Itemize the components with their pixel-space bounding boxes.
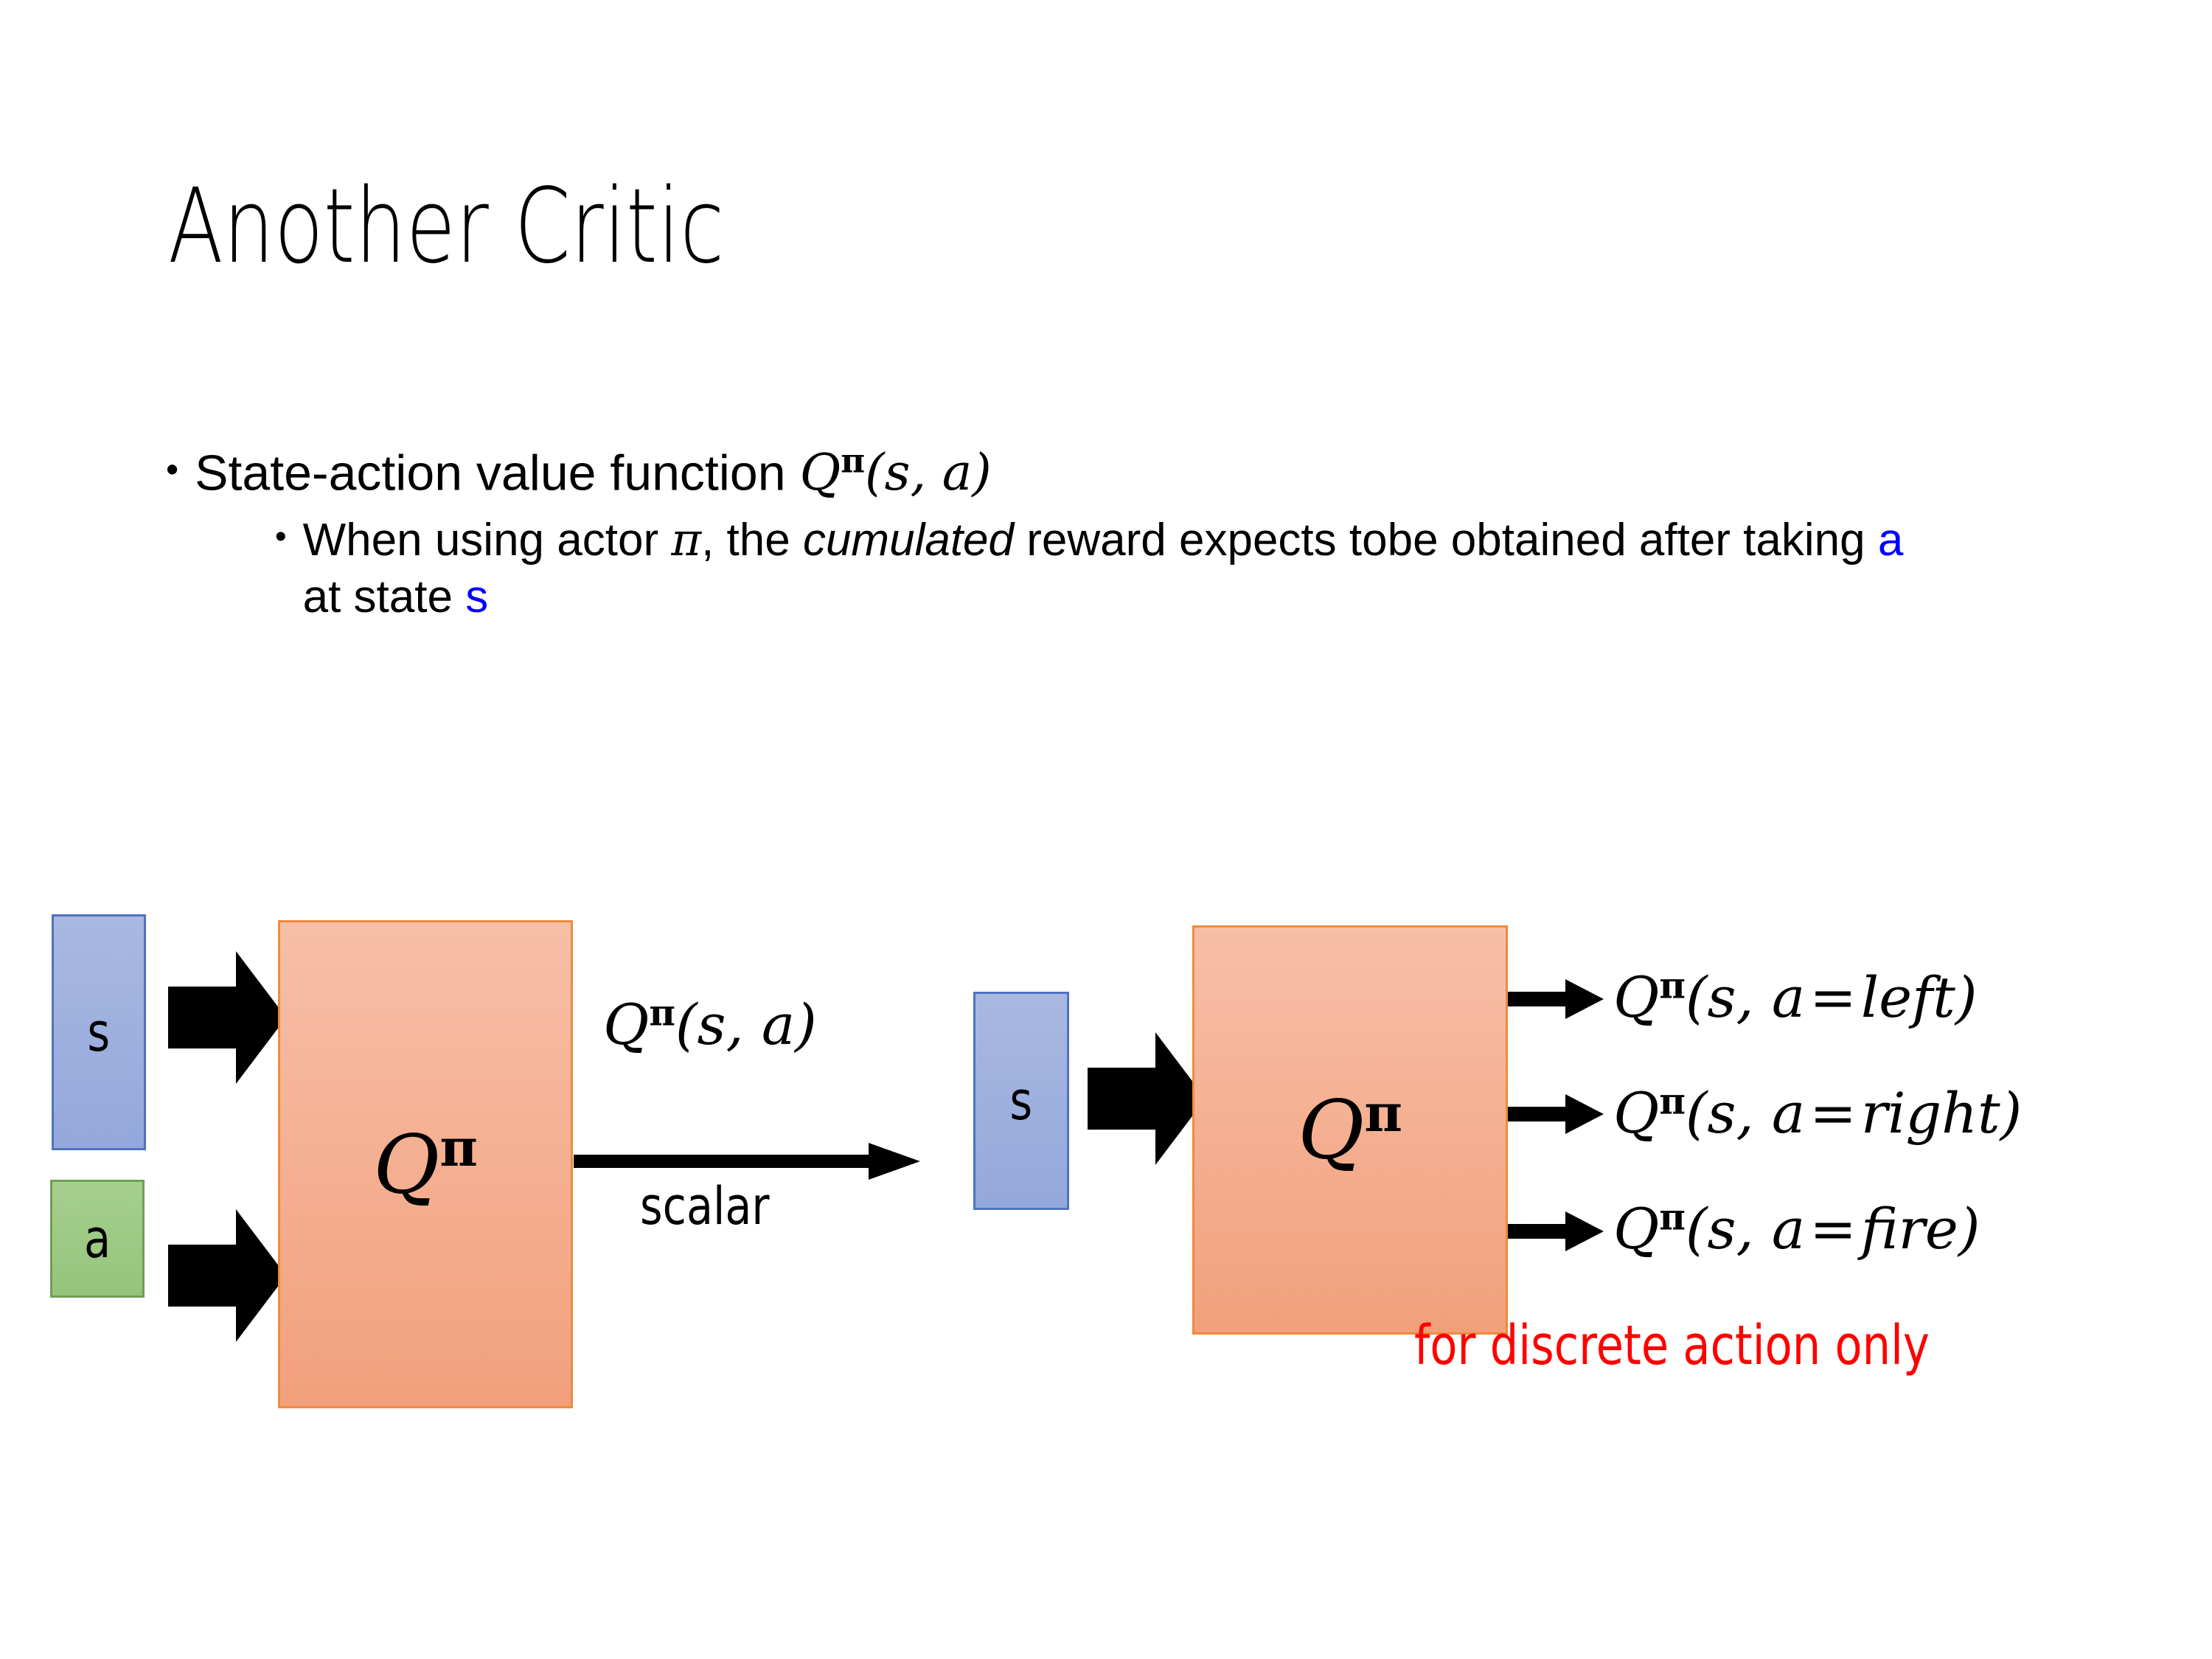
right-output-label-left: Qπ(s, a=left): [1613, 964, 1977, 1030]
right-output-label-fire: Qπ(s, a=fire): [1613, 1196, 1980, 1262]
out2-q-base: Q: [1613, 1196, 1659, 1262]
left-network-label: Qπ: [373, 1117, 478, 1212]
sub-bullet-highlight-state: s: [465, 571, 488, 622]
math-q-pi-s-a: Qπ(s, a): [799, 444, 991, 502]
sub-bullet-part-b: , the: [701, 515, 803, 566]
out0-q-base: Q: [1613, 964, 1659, 1030]
sub-bullet-line2-a: be obtained after taking: [1388, 515, 1878, 566]
bullet-item-state-action-value: • State-action value function Qπ(s, a): [166, 442, 2083, 504]
out0-arg-prefix: (s, a: [1686, 964, 1805, 1030]
out2-arg-prefix: (s, a: [1686, 1196, 1805, 1262]
math-pi-superscript: π: [841, 442, 865, 481]
discrete-action-note: for discrete action only: [1414, 1314, 1930, 1377]
page-title: Another Critic: [168, 175, 724, 279]
right-output-label-right: Qπ(s, a=right): [1613, 1080, 2022, 1146]
math-q-base: Q: [799, 444, 841, 502]
sub-bullet-part-a: When using actor: [303, 515, 672, 566]
right-network-box: Qπ: [1192, 925, 1508, 1335]
right-output-arrow-fire-icon: [1508, 1207, 1604, 1256]
right-arrow-state-to-network-icon: [1088, 1032, 1206, 1165]
left-output-q-base: Q: [603, 992, 649, 1057]
left-network-box: Qπ: [278, 920, 573, 1408]
left-output-pi-superscript: π: [649, 992, 675, 1034]
out0-equals: =: [1805, 964, 1861, 1030]
out2-arg-suffix: ): [1958, 1196, 1980, 1262]
left-network-q-base: Q: [373, 1117, 439, 1211]
left-arrow-state-to-network-icon: [168, 951, 286, 1084]
sub-bullet-pi-symbol: π: [671, 512, 701, 566]
bullet-list: • State-action value function Qπ(s, a) •…: [166, 442, 2083, 626]
right-input-state-box: s: [973, 992, 1069, 1210]
out2-action: fire: [1861, 1196, 1958, 1262]
math-args: (s, a): [865, 444, 992, 502]
sub-bullet-emphasis-cumulated: cumulated: [803, 515, 1014, 566]
right-network-label: Qπ: [1298, 1082, 1402, 1178]
right-output-arrow-right-icon: [1508, 1090, 1604, 1138]
sub-bullet-part-c: reward expects to: [1014, 515, 1388, 566]
bullet-marker-icon: •: [275, 511, 287, 562]
left-output-label: Qπ(s, a): [603, 992, 817, 1057]
left-output-sublabel: scalar: [640, 1176, 770, 1237]
left-network-pi-superscript: π: [439, 1117, 478, 1178]
right-input-state-label: s: [1010, 1070, 1033, 1132]
left-input-state-box: s: [52, 914, 146, 1150]
out1-pi-superscript: π: [1659, 1081, 1686, 1123]
out2-equals: =: [1805, 1196, 1861, 1262]
out1-arg-prefix: (s, a: [1686, 1080, 1805, 1146]
left-input-state-label: s: [88, 1001, 111, 1063]
out1-q-base: Q: [1613, 1080, 1659, 1146]
out1-action: right: [1861, 1080, 2000, 1146]
out1-arg-suffix: ): [2000, 1080, 2023, 1146]
left-input-action-box: a: [50, 1180, 145, 1298]
out1-equals: =: [1805, 1080, 1861, 1146]
right-network-pi-superscript: π: [1364, 1082, 1402, 1144]
out0-arg-suffix: ): [1955, 964, 1978, 1030]
right-network-q-base: Q: [1298, 1083, 1364, 1178]
out0-pi-superscript: π: [1659, 965, 1686, 1007]
right-output-arrow-left-icon: [1508, 975, 1604, 1023]
out0-action: left: [1861, 964, 1955, 1030]
bullet-marker-icon: •: [166, 442, 178, 498]
left-input-action-label: a: [84, 1208, 111, 1270]
bullet-text-level2: When using actor π, the cumulated reward…: [303, 511, 1934, 626]
left-output-args: (s, a): [675, 992, 817, 1057]
sub-bullet-highlight-action: a: [1878, 515, 1903, 566]
bullet-text-level1: State-action value function Qπ(s, a): [195, 442, 2083, 504]
sub-bullet-line2-b: at state: [303, 571, 466, 622]
left-arrow-action-to-network-icon: [168, 1209, 286, 1342]
bullet-item-cumulated-reward: • When using actor π, the cumulated rewa…: [275, 511, 1934, 626]
bullet-lead-text: State-action value function: [195, 445, 799, 501]
out2-pi-superscript: π: [1659, 1197, 1686, 1239]
